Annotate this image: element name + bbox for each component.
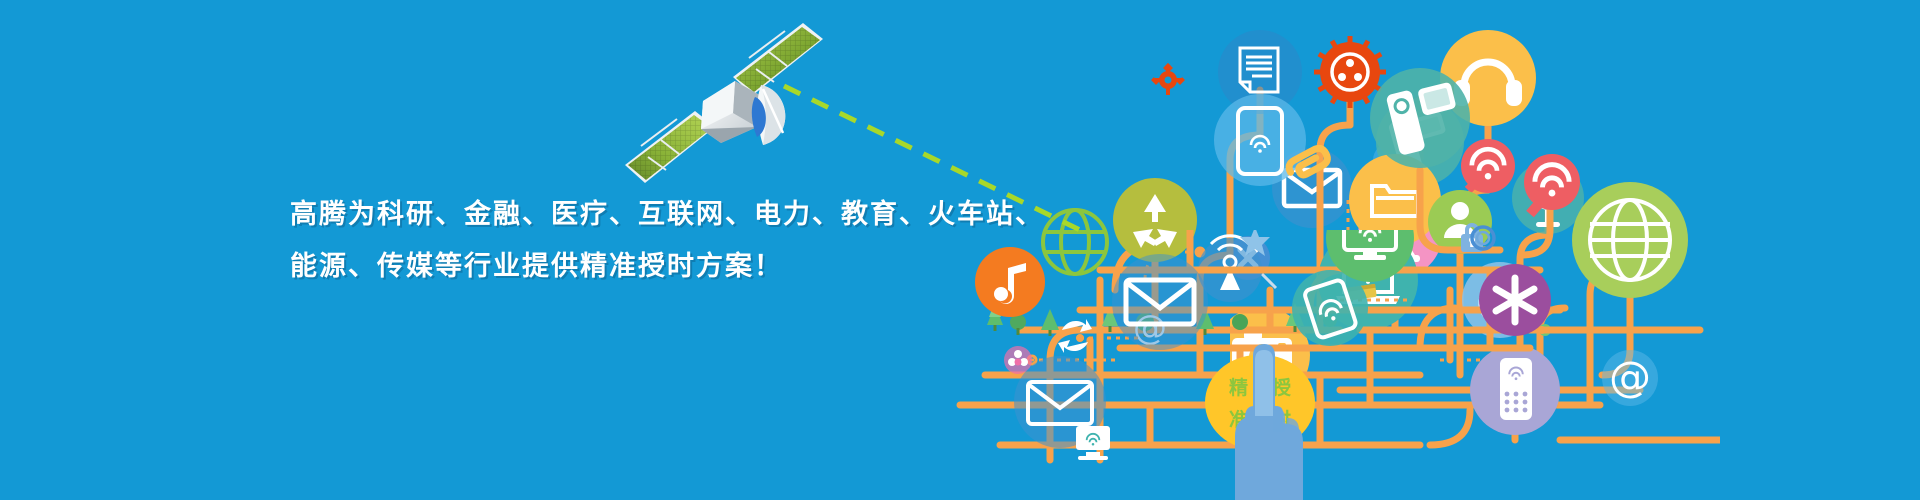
wifi-icon[interactable] [1524, 154, 1580, 214]
center-button-accessible-text: 精准授时 [0, 0, 1, 1]
headline-line-2: 能源、传媒等行业提供精准授时方案！ [290, 240, 990, 292]
mobile-device-icon[interactable] [1370, 68, 1470, 168]
hero-banner: 高腾为科研、金融、医疗、互联网、电力、教育、火车站、 能源、传媒等行业提供精准授… [0, 0, 1920, 500]
solar-panel-lower [625, 111, 715, 183]
at-sign-icon[interactable]: @ [1602, 350, 1658, 406]
globe-grid-icon[interactable] [1572, 182, 1688, 298]
satellite-illustration [595, 5, 875, 205]
star-icon[interactable] [1240, 230, 1270, 256]
headline-block: 高腾为科研、金融、医疗、互联网、电力、教育、火车站、 能源、传媒等行业提供精准授… [290, 188, 990, 292]
asterisk-icon[interactable] [1479, 264, 1551, 336]
gear-icon[interactable] [1151, 63, 1185, 95]
solar-panel-upper [733, 23, 823, 95]
envelope-icon[interactable] [1112, 254, 1208, 350]
pointing-hand [1215, 330, 1325, 500]
svg-text:@: @ [1609, 352, 1651, 401]
headline-line-1: 高腾为科研、金融、医疗、互联网、电力、教育、火车站、 [290, 188, 990, 240]
